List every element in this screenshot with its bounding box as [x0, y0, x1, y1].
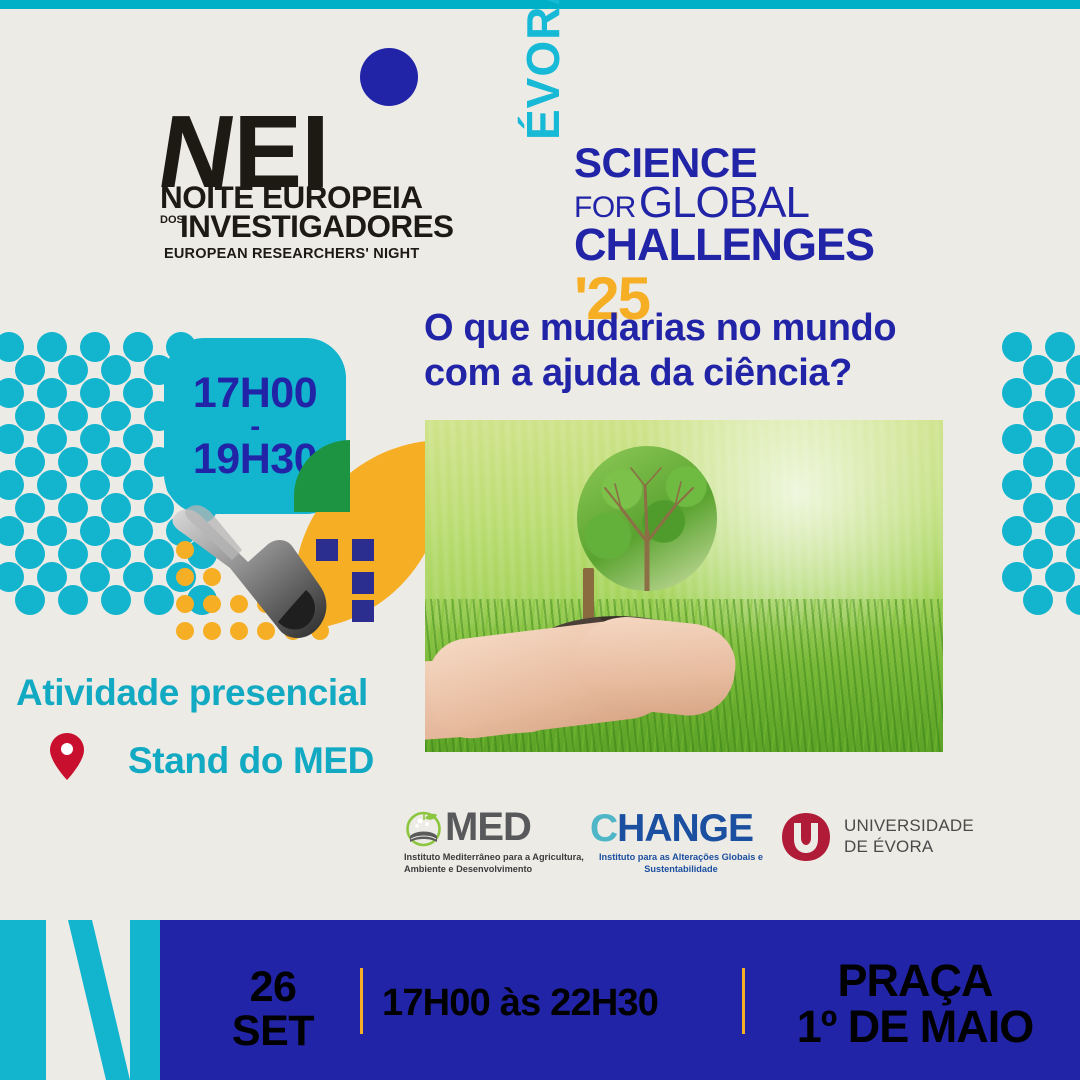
partner-ue-line1: UNIVERSIDADE	[844, 816, 974, 837]
footer-divider-1	[360, 968, 363, 1034]
decorative-dot	[58, 447, 88, 477]
footer-n-mark-icon	[26, 920, 166, 1080]
decorative-dot	[1023, 355, 1053, 385]
nei-logo-line2: INVESTIGADORES	[180, 208, 453, 245]
decorative-dot	[1023, 447, 1053, 477]
campaign-challenges: CHALLENGES	[574, 223, 884, 267]
footer-divider-2	[742, 968, 745, 1034]
blue-square-2	[352, 539, 374, 561]
footer-place-line1: PRAÇA	[760, 958, 1070, 1004]
campaign-title: SCIENCE FOR GLOBAL CHALLENGES '25	[574, 144, 884, 329]
partner-change: CHANGE Instituto para as Alterações Glob…	[590, 809, 772, 876]
decorative-dot	[1023, 585, 1053, 615]
decorative-dot	[58, 493, 88, 523]
footer-day: 26	[218, 966, 328, 1010]
photo-branches	[577, 446, 717, 591]
location-pin-icon	[50, 733, 84, 780]
decorative-dot	[58, 539, 88, 569]
poster-canvas: NEI NOITE EUROPEIA DOS INVESTIGADORES EU…	[0, 0, 1080, 1080]
partner-change-rest: HANGE	[617, 807, 753, 850]
decorative-dot	[15, 447, 45, 477]
footer-time: 17H00 às 22H30	[382, 982, 658, 1025]
partner-ue-name: UNIVERSIDADE DE ÉVORA	[844, 816, 974, 857]
blue-square-3	[352, 572, 374, 594]
campaign-global: GLOBAL	[639, 183, 809, 223]
photo-globe-tree	[577, 446, 717, 591]
partner-logos: MED Instituto Mediterrâneo para a Agricu…	[404, 805, 956, 879]
attendance-mode: Atividade presencial	[16, 672, 368, 714]
decorative-dot	[101, 447, 131, 477]
med-leaf-icon	[404, 808, 443, 847]
decorative-dot-field-left	[0, 332, 170, 610]
campaign-science: SCIENCE	[574, 144, 884, 183]
partner-universidade-evora: UNIVERSIDADE DE ÉVORA	[780, 811, 974, 863]
decorative-dot	[58, 585, 88, 615]
decorative-dot	[1023, 539, 1053, 569]
footer-place-line2: 1º DE MAIO	[760, 1004, 1070, 1050]
decorative-dot	[58, 355, 88, 385]
decorative-dot	[1023, 401, 1053, 431]
decorative-dot	[15, 539, 45, 569]
nei-logo: NEI NOITE EUROPEIA DOS INVESTIGADORES EU…	[160, 48, 720, 278]
nei-logo-city: ÉVORA	[516, 0, 570, 140]
time-badge-separator: -	[250, 416, 260, 437]
decorative-dot	[101, 585, 131, 615]
footer-place: PRAÇA 1º DE MAIO	[760, 958, 1070, 1050]
decorative-dot	[15, 355, 45, 385]
decorative-dot	[58, 401, 88, 431]
decorative-dot	[15, 401, 45, 431]
partner-med-tagline: Instituto Mediterrâneo para a Agricultur…	[404, 851, 584, 876]
activity-photo	[425, 420, 943, 752]
decorative-dot	[101, 401, 131, 431]
decorative-dot	[101, 493, 131, 523]
hand-illustration-icon	[170, 490, 350, 650]
attendance-location: Stand do MED	[128, 740, 374, 782]
decorative-dot	[15, 585, 45, 615]
time-badge-start: 17H00	[193, 371, 317, 416]
footer-month: SET	[218, 1010, 328, 1054]
partner-ue-line2: DE ÉVORA	[844, 837, 974, 858]
footer-date: 26 SET	[218, 966, 328, 1054]
partner-med-name: MED	[445, 807, 531, 847]
decorative-dot	[1023, 493, 1053, 523]
nei-logo-dot-icon	[360, 48, 418, 106]
blue-square-4	[352, 600, 374, 622]
headline-question: O que mudarias no mundo com a ajuda da c…	[424, 306, 944, 396]
decorative-dot	[101, 355, 131, 385]
partner-change-name: CHANGE	[590, 809, 772, 848]
decorative-dot	[101, 539, 131, 569]
footer-band: 26 SET 17H00 às 22H30 PRAÇA 1º DE MAIO	[160, 920, 1080, 1080]
partner-med: MED Instituto Mediterrâneo para a Agricu…	[404, 807, 584, 876]
campaign-for: FOR	[574, 194, 636, 222]
partner-change-tagline: Instituto para as Alterações Globais e S…	[590, 851, 772, 876]
universidade-evora-crest-icon	[780, 811, 832, 863]
nei-logo-english: EUROPEAN RESEARCHERS' NIGHT	[164, 246, 419, 262]
decorative-dot-field-right	[1002, 332, 1080, 610]
decorative-dot	[15, 493, 45, 523]
